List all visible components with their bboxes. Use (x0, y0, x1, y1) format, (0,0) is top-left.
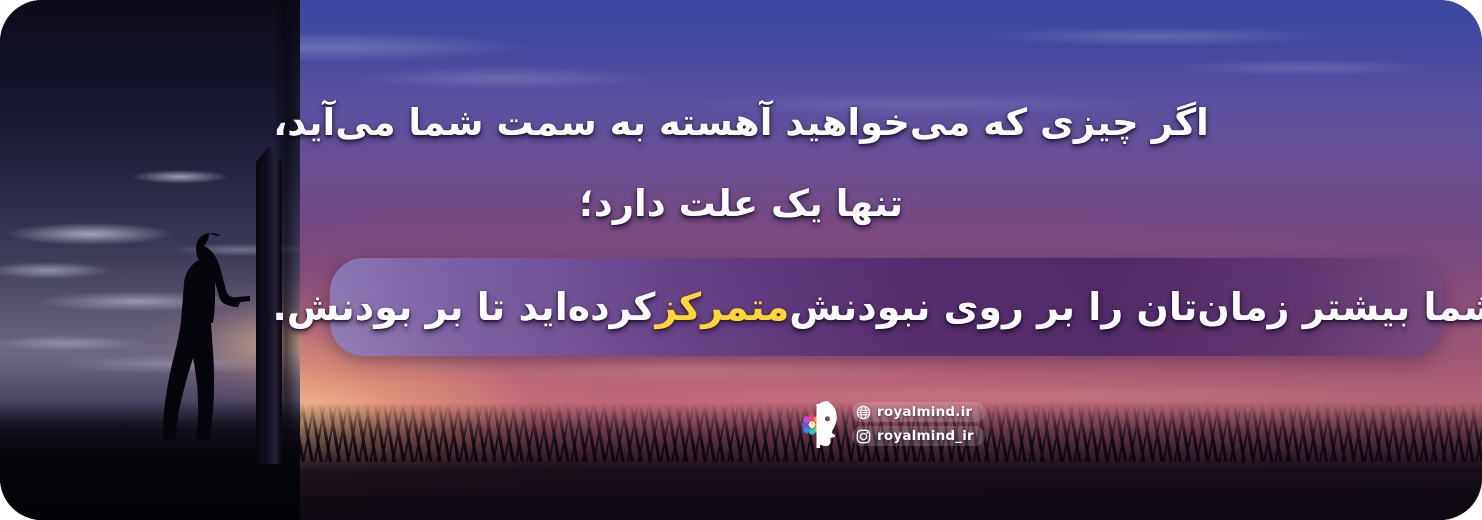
brand-instagram-pill[interactable]: royalmind_ir (852, 426, 985, 446)
globe-icon (856, 405, 871, 420)
quote-line-2: تنها یک علت دارد؛ (0, 180, 1482, 228)
brand-instagram-label: royalmind_ir (877, 428, 974, 444)
photo-panel (0, 0, 300, 520)
brand-badge[interactable]: royalmind.ir royalmind_ir (798, 400, 985, 448)
brand-handles: royalmind.ir royalmind_ir (852, 402, 985, 446)
quote-banner: اگر چیزی که می‌خواهید آهسته به سمت شما م… (0, 0, 1482, 520)
instagram-icon (856, 429, 871, 444)
quote-line-3: شما بیشتر زمان‌تان را بر روی نبودنش متمر… (330, 258, 1443, 356)
quote-line-3-before: شما بیشتر زمان‌تان را بر روی نبودنش (789, 258, 1482, 356)
brand-website-pill[interactable]: royalmind.ir (852, 402, 985, 422)
quote-line-1: اگر چیزی که می‌خواهید آهسته به سمت شما م… (0, 99, 1482, 147)
royalmind-head-logo (798, 400, 844, 448)
quote-line-3-after: کرده‌اید تا بر بودنش. (272, 258, 655, 356)
quote-keyword: متمرکز (655, 258, 789, 356)
brand-website-label: royalmind.ir (877, 404, 972, 420)
